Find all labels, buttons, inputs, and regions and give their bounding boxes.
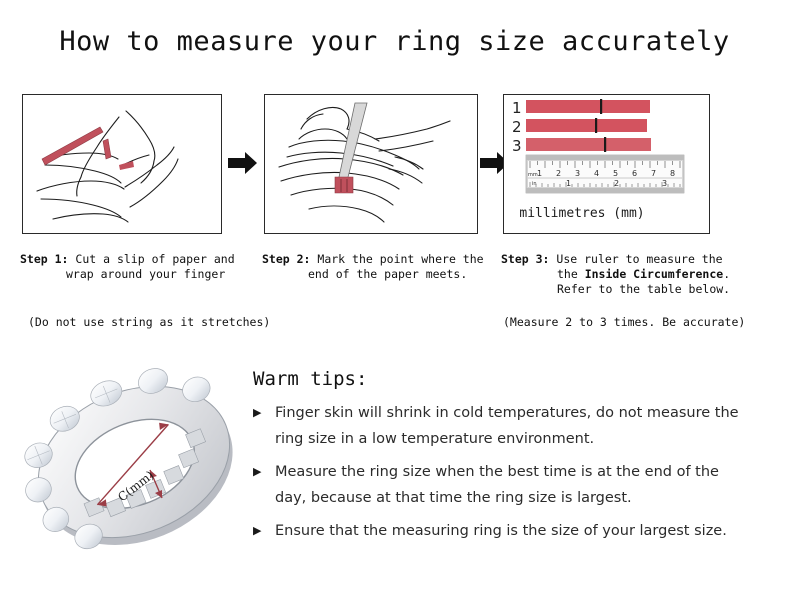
step-3-illustration-panel: 1 2 3 [503,94,710,234]
svg-text:1: 1 [566,179,571,188]
step-3-caption: Step 3: Use ruler to measure the the Ins… [501,252,751,297]
paper-strip-row-1: 1 [512,99,650,117]
step-2-line-1: Mark the point where the [317,252,483,266]
step-3-line-2-suffix: . [723,267,730,281]
triangle-bullet-icon: ▶ [253,518,261,544]
step-1-note: (Do not use string as it stretches) [28,315,270,329]
tip-item: ▶ Finger skin will shrink in cold temper… [253,400,753,452]
svg-text:3: 3 [662,179,667,188]
hand-with-paper-strip-drawing [23,95,222,234]
svg-text:5: 5 [613,169,618,178]
tip-text: Ensure that the measuring ring is the si… [275,523,727,539]
paper-strip-row-2: 2 [512,118,647,136]
strips-and-ruler-drawing: 1 2 3 [504,95,710,234]
svg-text:1: 1 [537,169,542,178]
step-1-label: Step 1: [20,252,68,266]
tip-item: ▶ Measure the ring size when the best ti… [253,459,753,511]
triangle-bullet-icon: ▶ [253,400,261,426]
page-title: How to measure your ring size accurately [0,26,789,57]
step-3-line-2-prefix: the [557,267,585,281]
step-1-caption: Step 1: Cut a slip of paper and wrap aro… [20,252,250,282]
step-2-caption: Step 2: Mark the point where the end of … [262,252,492,282]
step-3-note: (Measure 2 to 3 times. Be accurate) [503,315,745,329]
svg-text:1: 1 [512,99,522,117]
svg-text:7: 7 [651,169,656,178]
tip-text: Measure the ring size when the best time… [275,464,719,506]
svg-text:3: 3 [575,169,580,178]
svg-text:3: 3 [512,137,522,155]
ring-diagram: D(mm) C(mm) [18,352,250,568]
ruler-caption: millimetres (mm) [519,206,644,221]
warm-tips-heading: Warm tips: [253,368,367,390]
step-3-line-2: the Inside Circumference. [501,267,751,282]
svg-text:4: 4 [594,169,599,178]
step-2-label: Step 2: [262,252,310,266]
triangle-bullet-icon: ▶ [253,459,261,485]
svg-text:2: 2 [556,169,561,178]
ruler-graphic: 1 2 3 4 5 6 7 8 mm 1 2 3 in [526,155,684,193]
warm-tips-list: ▶ Finger skin will shrink in cold temper… [253,400,753,551]
step-3-label: Step 3: [501,252,549,266]
step-3-inside-circumference: Inside Circumference [585,267,723,281]
step-2-illustration-panel [264,94,478,234]
step-3-line-3: Refer to the table below. [501,282,751,297]
step-arrow-1-to-2 [228,150,258,176]
step-1-illustration-panel [22,94,222,234]
svg-text:2: 2 [614,179,619,188]
svg-text:6: 6 [632,169,637,178]
svg-text:2: 2 [512,118,522,136]
eternity-ring-illustration: D(mm) C(mm) [18,352,250,568]
hand-marking-paper-drawing [265,95,478,234]
tip-text: Finger skin will shrink in cold temperat… [275,405,739,447]
ring-size-guide-page: How to measure your ring size accurately [0,0,789,606]
paper-strip-row-3: 3 [512,137,651,155]
step-3-line-1: Use ruler to measure the [556,252,722,266]
tip-item: ▶ Ensure that the measuring ring is the … [253,518,753,544]
svg-text:8: 8 [670,169,675,178]
svg-text:mm: mm [528,172,538,178]
step-2-line-2: end of the paper meets. [262,267,492,282]
step-1-line-2: wrap around your finger [20,267,250,282]
step-1-line-1: Cut a slip of paper and [75,252,234,266]
